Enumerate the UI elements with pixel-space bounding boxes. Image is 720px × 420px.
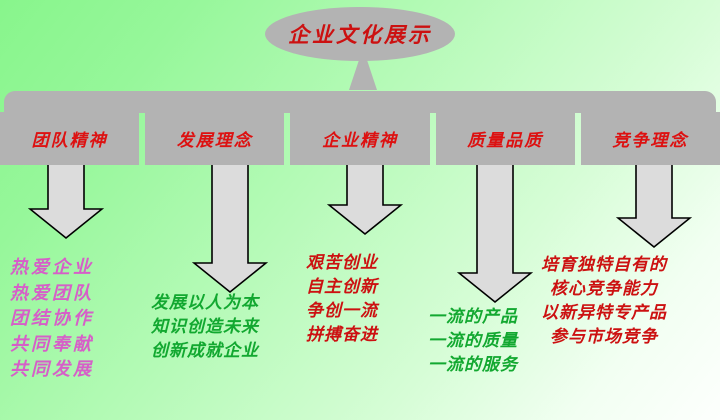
category-boxes-row: 团队精神 发展理念 企业精神 质量品质 竞争理念 — [0, 112, 720, 165]
category-label: 企业精神 — [322, 126, 398, 151]
column-line: 共同奉献 — [10, 332, 94, 358]
column-line: 艰苦创业 — [306, 251, 378, 275]
arrow-down-icon-quality — [457, 163, 533, 304]
column-line: 自主创新 — [306, 275, 378, 299]
text-column-team-spirit: 热爱企业 热爱团队 团结协作 共同奉献 共同发展 — [10, 255, 94, 383]
category-box-team-spirit[interactable]: 团队精神 — [0, 112, 139, 165]
column-line: 一流的服务 — [428, 353, 518, 377]
category-box-quality[interactable]: 质量品质 — [436, 112, 575, 165]
category-label: 发展理念 — [177, 126, 253, 151]
text-column-enterprise-spirit: 艰苦创业 自主创新 争创一流 拼搏奋进 — [306, 251, 378, 348]
column-line: 以新异特专产品 — [541, 301, 667, 325]
column-line: 知识创造未来 — [151, 315, 259, 339]
page-title: 企业文化展示 — [288, 19, 432, 49]
category-label: 质量品质 — [467, 126, 543, 151]
column-line: 核心竞争能力 — [541, 277, 667, 301]
column-line: 争创一流 — [306, 299, 378, 323]
column-line: 共同发展 — [10, 357, 94, 383]
header-bar — [4, 91, 716, 113]
column-line: 发展以人为本 — [151, 291, 259, 315]
column-line: 团结协作 — [10, 306, 94, 332]
column-line: 一流的质量 — [428, 329, 518, 353]
column-line: 一流的产品 — [428, 305, 518, 329]
category-label: 团队精神 — [32, 126, 108, 151]
text-column-development-idea: 发展以人为本 知识创造未来 创新成就企业 — [151, 291, 259, 363]
category-box-enterprise-spirit[interactable]: 企业精神 — [290, 112, 429, 165]
column-line: 拼搏奋进 — [306, 323, 378, 347]
category-box-competition-idea[interactable]: 竞争理念 — [581, 112, 720, 165]
category-label: 竞争理念 — [612, 126, 688, 151]
column-line: 培育独特自有的 — [541, 253, 667, 277]
arrow-down-icon-competition-idea — [616, 163, 692, 249]
column-line: 热爱企业 — [10, 255, 94, 281]
column-line: 创新成就企业 — [151, 339, 259, 363]
text-column-quality: 一流的产品 一流的质量 一流的服务 — [428, 305, 518, 377]
text-column-competition-idea: 培育独特自有的 核心竞争能力 以新异特专产品 参与市场竞争 — [541, 253, 667, 350]
arrow-down-icon-enterprise-spirit — [327, 163, 403, 236]
category-box-development-idea[interactable]: 发展理念 — [145, 112, 284, 165]
enterprise-culture-diagram: 企业文化展示 团队精神 发展理念 企业精神 质量品质 竞争理念 — [0, 0, 720, 420]
arrow-down-icon-team-spirit — [28, 163, 104, 240]
column-line: 热爱团队 — [10, 281, 94, 307]
title-ellipse: 企业文化展示 — [265, 7, 455, 61]
arrow-down-icon-development-idea — [192, 163, 268, 294]
column-line: 参与市场竞争 — [541, 325, 667, 349]
